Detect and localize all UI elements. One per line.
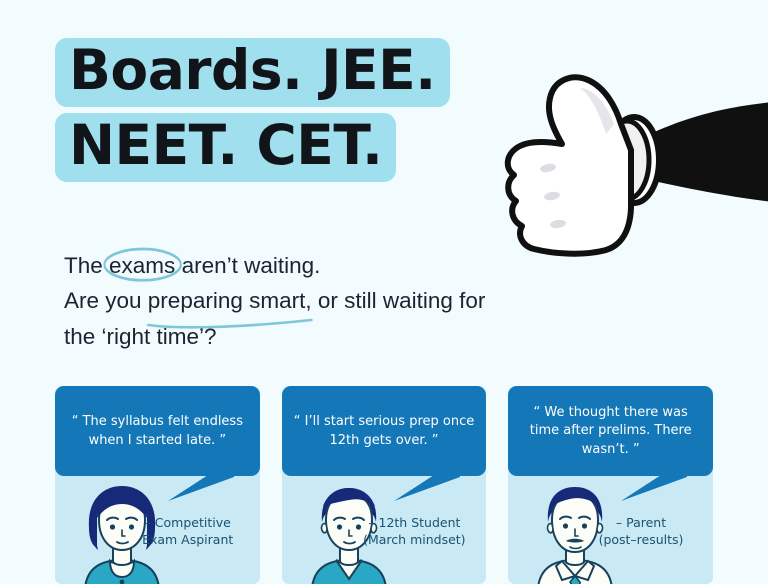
subcopy-line-1-post: aren’t waiting. — [175, 253, 320, 278]
card-lower-area: – 12th Student (March mindset) — [282, 492, 487, 584]
headline: Boards. JEE. NEET. CET. — [55, 38, 450, 182]
card-lower-area: – Parent (post–results) — [508, 492, 713, 584]
attribution-line-2: Exam Aspirant — [126, 531, 250, 548]
headline-line-2-row: NEET. CET. — [55, 107, 450, 182]
testimonial-card-list: “ The syllabus felt endless when I start… — [55, 386, 713, 584]
testimonial-card: “ The syllabus felt endless when I start… — [55, 386, 260, 584]
headline-line-2: NEET. CET. — [55, 113, 396, 182]
attribution: – 12th Student (March mindset) — [352, 514, 476, 548]
attribution: – Parent (post–results) — [579, 514, 703, 548]
headline-line-1-row: Boards. JEE. — [55, 38, 450, 107]
attribution-line-2: (March mindset) — [352, 531, 476, 548]
quote-text: “ I’ll start serious prep once 12th gets… — [294, 413, 475, 450]
quote-text: “ The syllabus felt endless when I start… — [67, 413, 248, 450]
subcopy-line-3: the ‘right time’? — [64, 319, 584, 354]
attribution: – Competitive Exam Aspirant — [126, 514, 250, 548]
attribution-line-1: – Competitive — [126, 514, 250, 531]
speech-bubble: “ We thought there was time after prelim… — [508, 386, 713, 476]
highlighted-word-exams: exams — [109, 248, 175, 283]
quote-text: “ We thought there was time after prelim… — [520, 404, 701, 459]
subcopy-line-2: Are you preparing smart, or still waitin… — [64, 283, 584, 318]
card-lower-area: – Competitive Exam Aspirant — [55, 492, 260, 584]
poster-root: Boards. JEE. NEET. CET. The exams aren’t… — [0, 0, 768, 584]
subcopy-line-1-pre: The — [64, 253, 109, 278]
subcopy-line-2-post: , or still waiting for — [305, 288, 485, 313]
subcopy-line-2-mark: preparing smart — [148, 288, 306, 313]
testimonial-card: “ I’ll start serious prep once 12th gets… — [282, 386, 487, 584]
subcopy: The exams aren’t waiting. Are you prepar… — [64, 248, 584, 354]
subcopy-line-1-mark: exams — [109, 253, 175, 278]
speech-bubble: “ The syllabus felt endless when I start… — [55, 386, 260, 476]
subcopy-line-2-pre: Are you — [64, 288, 148, 313]
attribution-line-1: – Parent — [579, 514, 703, 531]
speech-bubble: “ I’ll start serious prep once 12th gets… — [282, 386, 487, 476]
highlighted-phrase-preparing-smart: preparing smart — [148, 283, 306, 318]
headline-line-1: Boards. JEE. — [55, 38, 450, 107]
testimonial-card: “ We thought there was time after prelim… — [508, 386, 713, 584]
attribution-line-1: – 12th Student — [352, 514, 476, 531]
attribution-line-2: (post–results) — [579, 531, 703, 548]
subcopy-line-1: The exams aren’t waiting. — [64, 248, 584, 283]
